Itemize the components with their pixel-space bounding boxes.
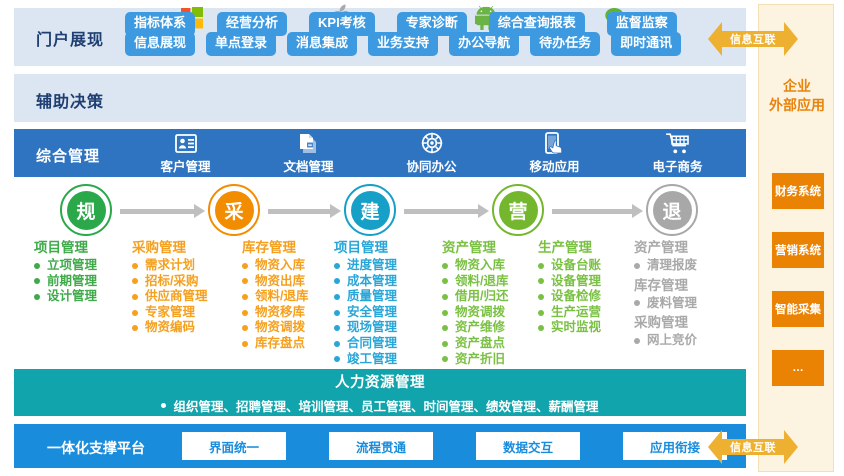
integrated-item-5[interactable]: 电子商务 (623, 132, 733, 175)
module-list-item-label: 竣工管理 (347, 352, 397, 368)
module-list-item[interactable]: 进度管理 (334, 258, 397, 274)
stage-ring: 采 (208, 184, 260, 236)
module-list-item[interactable]: 物资移库 (242, 305, 308, 321)
stage-connector-arrow-4 (632, 204, 643, 218)
platform-button-2[interactable]: 流程贯通 (329, 432, 433, 460)
module-list-item-label: 需求计划 (145, 258, 195, 274)
module-list-item[interactable]: 物资编码 (132, 320, 208, 336)
stage-circle-4[interactable]: 营 (492, 184, 548, 240)
hr-management-band: 人力资源管理 组织管理、招聘管理、培训管理、员工管理、时间管理、绩效管理、薪酬管… (14, 369, 746, 416)
bullet-icon (132, 294, 138, 300)
integrated-item-label: 协同办公 (406, 156, 456, 175)
stage-circle-5[interactable]: 退 (646, 184, 702, 240)
bullet-icon (538, 278, 544, 284)
stage-connector-line-1 (120, 209, 195, 214)
integrated-item-label: 移动应用 (529, 156, 579, 175)
module-list-item-label: 物资调拨 (455, 305, 505, 321)
bullet-icon (34, 278, 40, 284)
module-list-item-label: 招标/采购 (145, 274, 198, 290)
module-list-item[interactable]: 资产折旧 (442, 352, 508, 368)
external-app-box-1[interactable]: 财务系统 (772, 173, 824, 209)
bullet-icon (242, 278, 248, 284)
stage-ring: 规 (60, 184, 112, 236)
platform-button-3[interactable]: 数据交互 (476, 432, 580, 460)
external-applications-panel: 企业 外部应用 财务系统营销系统智能采集… (758, 4, 834, 472)
module-column-header: 资产管理 (442, 236, 508, 256)
decision-pill-6[interactable]: 监督监察 (607, 12, 677, 36)
module-column-header: 生产管理 (538, 236, 601, 256)
info-interconnect-label: 信息互联 (708, 430, 798, 464)
module-list-item-label: 设备检修 (551, 289, 601, 305)
module-list-item-label: 物资入库 (455, 258, 505, 274)
bullet-icon (442, 356, 448, 362)
module-list-item-label: 资产维修 (455, 320, 505, 336)
external-applications-title: 企业 外部应用 (759, 77, 835, 115)
platform-button-list: 界面统一流程贯通数据交互应用衔接 (182, 432, 727, 460)
module-columns: 项目管理立项管理前期管理设计管理采购管理需求计划招标/采购供应商管理专家管理物资… (14, 236, 746, 364)
module-list-item-label: 前期管理 (47, 274, 97, 290)
bullet-icon (538, 263, 544, 269)
module-list-item[interactable]: 安全管理 (334, 305, 397, 321)
module-column-header: 采购管理 (634, 311, 697, 331)
bullet-icon (334, 325, 340, 331)
module-list-item-label: 物资入库 (255, 258, 305, 274)
module-list-item[interactable]: 设备管理 (538, 274, 601, 290)
module-list-item[interactable]: 资产维修 (442, 320, 508, 336)
module-list-item[interactable]: 库存盘点 (242, 336, 308, 352)
module-column-header: 项目管理 (34, 236, 97, 256)
module-list-item-label: 物资编码 (145, 320, 195, 336)
module-column-header: 采购管理 (132, 236, 208, 256)
lifecycle-stage-flow: 规采建营退 (14, 184, 746, 240)
module-column-5: 资产管理物资入库领料/退库借用/归还物资调拨资产维修资产盘点资产折旧 (442, 236, 508, 367)
module-list-item[interactable]: 前期管理 (34, 274, 97, 290)
module-list-item-label: 物资调拨 (255, 320, 305, 336)
module-list-item-label: 合同管理 (347, 336, 397, 352)
module-list-item[interactable]: 物资调拨 (442, 305, 508, 321)
integrated-management-label: 综合管理 (36, 145, 100, 166)
customer-card-icon (175, 132, 197, 154)
module-list-item-label: 现场管理 (347, 320, 397, 336)
decision-pill-list: 指标体系经营分析KPI考核专家诊断综合查询报表监督监察 (125, 12, 677, 36)
integrated-management-band: 综合管理 客户管理文档管理协同办公移动应用电子商务 (14, 129, 746, 177)
integrated-item-label: 电子商务 (652, 156, 702, 175)
module-list-item[interactable]: 成本管理 (334, 274, 397, 290)
hr-title: 人力资源管理 (335, 371, 425, 392)
decision-band: 辅助决策 (14, 74, 746, 122)
bullet-icon (634, 338, 640, 344)
module-list-item[interactable]: 物资出库 (242, 274, 308, 290)
bullet-icon (334, 278, 340, 284)
integrated-item-4[interactable]: 移动应用 (500, 132, 610, 175)
portal-band-label: 门户展现 (36, 26, 104, 50)
module-column-header: 项目管理 (334, 236, 397, 256)
module-list-item[interactable]: 实时监视 (538, 320, 601, 336)
bullet-icon (242, 310, 248, 316)
module-list-item[interactable]: 设备检修 (538, 289, 601, 305)
module-list-item-label: 借用/归还 (455, 289, 508, 305)
module-column-2: 采购管理需求计划招标/采购供应商管理专家管理物资编码 (132, 236, 208, 336)
bullet-icon (334, 356, 340, 362)
decision-pill-3[interactable]: KPI考核 (309, 12, 375, 36)
bullet-icon (132, 310, 138, 316)
module-list-item[interactable]: 网上竞价 (634, 333, 697, 349)
module-list-item-label: 库存盘点 (255, 336, 305, 352)
bullet-icon (34, 263, 40, 269)
bullet-icon (442, 310, 448, 316)
stage-ring: 营 (492, 184, 544, 236)
stage-label: 采 (215, 191, 254, 230)
mobile-touch-icon (545, 132, 565, 154)
document-stack-icon (299, 132, 319, 154)
bullet-icon (132, 325, 138, 331)
bullet-icon (442, 294, 448, 300)
decision-band-label: 辅助决策 (36, 88, 104, 112)
integrated-item-label: 文档管理 (283, 156, 333, 175)
module-list-item-label: 设备台账 (551, 258, 601, 274)
external-title-line2: 外部应用 (759, 96, 835, 115)
module-list-item[interactable]: 废料管理 (634, 296, 697, 312)
decision-pill-4[interactable]: 专家诊断 (397, 12, 467, 36)
module-list-item[interactable]: 物资入库 (242, 258, 308, 274)
module-list-item-label: 生产运营 (551, 305, 601, 321)
module-list-item-label: 成本管理 (347, 274, 397, 290)
module-column-1: 项目管理立项管理前期管理设计管理 (34, 236, 97, 305)
module-list-item[interactable]: 质量管理 (334, 289, 397, 305)
bullet-icon (442, 325, 448, 331)
module-column-header: 资产管理 (634, 236, 697, 256)
module-list-item-label: 安全管理 (347, 305, 397, 321)
integrated-item-2[interactable]: 文档管理 (254, 132, 364, 175)
bullet-icon (242, 341, 248, 347)
stage-label: 建 (351, 191, 390, 230)
bullet-icon (242, 294, 248, 300)
module-column-7: 资产管理清理报废库存管理废料管理采购管理网上竞价 (634, 236, 697, 349)
module-list-item[interactable]: 供应商管理 (132, 289, 208, 305)
enterprise-architecture-diagram: 门户展现 (0, 0, 844, 476)
stage-label: 营 (499, 191, 538, 230)
module-column-header: 库存管理 (242, 236, 308, 256)
stage-circle-1[interactable]: 规 (60, 184, 116, 240)
collaboration-wheel-icon (421, 132, 443, 154)
external-title-line1: 企业 (759, 77, 835, 96)
external-app-box-3[interactable]: 智能采集 (772, 291, 824, 327)
stage-ring: 建 (344, 184, 396, 236)
platform-band: 一体化支撑平台 界面统一流程贯通数据交互应用衔接 (14, 424, 746, 468)
decision-pill-2[interactable]: 经营分析 (217, 12, 287, 36)
module-list-item[interactable]: 借用/归还 (442, 289, 508, 305)
module-list-item[interactable]: 物资入库 (442, 258, 508, 274)
bullet-icon (634, 300, 640, 306)
bullet-icon (334, 341, 340, 347)
bullet-icon (132, 263, 138, 269)
module-list-item[interactable]: 领料/退库 (442, 274, 508, 290)
module-list-item[interactable]: 需求计划 (132, 258, 208, 274)
external-app-box-4[interactable]: … (772, 350, 824, 386)
module-list-item-label: 资产折旧 (455, 352, 505, 368)
bullet-icon (442, 263, 448, 269)
info-interconnect-arrow-1: 信息互联 (708, 22, 798, 56)
hr-items: 组织管理、招聘管理、培训管理、员工管理、时间管理、绩效管理、薪酬管理 (161, 396, 598, 415)
hr-items-text: 组织管理、招聘管理、培训管理、员工管理、时间管理、绩效管理、薪酬管理 (173, 396, 598, 415)
module-list-item-label: 物资移库 (255, 305, 305, 321)
module-column-4: 项目管理进度管理成本管理质量管理安全管理现场管理合同管理竣工管理 (334, 236, 397, 367)
module-list-item-label: 专家管理 (145, 305, 195, 321)
bullet-icon (132, 278, 138, 284)
platform-label: 一体化支撑平台 (47, 438, 145, 458)
stage-ring: 退 (646, 184, 698, 236)
module-list-item-label: 物资出库 (255, 274, 305, 290)
module-list-item-label: 清理报废 (647, 258, 697, 274)
stage-connector-arrow-3 (478, 204, 489, 218)
module-list-item[interactable]: 资产盘点 (442, 336, 508, 352)
module-list-item[interactable]: 招标/采购 (132, 274, 208, 290)
module-list-item-label: 质量管理 (347, 289, 397, 305)
module-list-item[interactable]: 领料/退库 (242, 289, 308, 305)
module-list-item-label: 进度管理 (347, 258, 397, 274)
bullet-icon (634, 263, 640, 269)
bullet-icon (242, 263, 248, 269)
module-list-item[interactable]: 设备台账 (538, 258, 601, 274)
module-list-item-label: 资产盘点 (455, 336, 505, 352)
bullet-icon (161, 403, 166, 408)
module-column-3: 库存管理物资入库物资出库领料/退库物资移库物资调拨库存盘点 (242, 236, 308, 352)
module-list-item-label: 设计管理 (47, 289, 97, 305)
module-list-item[interactable]: 合同管理 (334, 336, 397, 352)
stage-connector-line-3 (404, 209, 479, 214)
module-list-item[interactable]: 专家管理 (132, 305, 208, 321)
decision-pill-5[interactable]: 综合查询报表 (489, 12, 585, 36)
stage-label: 退 (653, 191, 692, 230)
module-list-item[interactable]: 现场管理 (334, 320, 397, 336)
stage-connector-line-4 (552, 209, 633, 214)
stage-connector-arrow-2 (330, 204, 341, 218)
module-column-header: 库存管理 (634, 274, 697, 294)
stage-circle-2[interactable]: 采 (208, 184, 264, 240)
integrated-item-1[interactable]: 客户管理 (131, 132, 241, 175)
module-list-item-label: 网上竞价 (647, 333, 697, 349)
bullet-icon (442, 278, 448, 284)
external-app-box-2[interactable]: 营销系统 (772, 232, 824, 268)
bullet-icon (242, 325, 248, 331)
module-list-item[interactable]: 设计管理 (34, 289, 97, 305)
bullet-icon (538, 325, 544, 331)
module-list-item[interactable]: 生产运营 (538, 305, 601, 321)
integrated-management-items: 客户管理文档管理协同办公移动应用电子商务 (124, 132, 739, 176)
module-list-item[interactable]: 竣工管理 (334, 352, 397, 368)
stage-connector-line-2 (268, 209, 331, 214)
info-interconnect-arrow-2: 信息互联 (708, 430, 798, 464)
module-list-item-label: 立项管理 (47, 258, 97, 274)
shopping-cart-icon (666, 132, 690, 154)
stage-circle-3[interactable]: 建 (344, 184, 400, 240)
module-list-item-label: 实时监视 (551, 320, 601, 336)
platform-button-1[interactable]: 界面统一 (182, 432, 286, 460)
bullet-icon (442, 341, 448, 347)
bullet-icon (538, 294, 544, 300)
module-list-item-label: 设备管理 (551, 274, 601, 290)
stage-label: 规 (67, 191, 106, 230)
info-interconnect-label: 信息互联 (708, 22, 798, 56)
stage-connector-arrow-1 (194, 204, 205, 218)
module-list-item[interactable]: 清理报废 (634, 258, 697, 274)
module-list-item-label: 供应商管理 (145, 289, 208, 305)
module-column-6: 生产管理设备台账设备管理设备检修生产运营实时监视 (538, 236, 601, 336)
bullet-icon (334, 310, 340, 316)
module-list-item-label: 废料管理 (647, 296, 697, 312)
module-list-item-label: 领料/退库 (455, 274, 508, 290)
bullet-icon (34, 294, 40, 300)
module-list-item[interactable]: 物资调拨 (242, 320, 308, 336)
bullet-icon (334, 294, 340, 300)
bullet-icon (334, 263, 340, 269)
integrated-item-label: 客户管理 (160, 156, 210, 175)
bullet-icon (538, 310, 544, 316)
integrated-item-3[interactable]: 协同办公 (377, 132, 487, 175)
module-list-item-label: 领料/退库 (255, 289, 308, 305)
decision-pill-1[interactable]: 指标体系 (125, 12, 195, 36)
module-list-item[interactable]: 立项管理 (34, 258, 97, 274)
